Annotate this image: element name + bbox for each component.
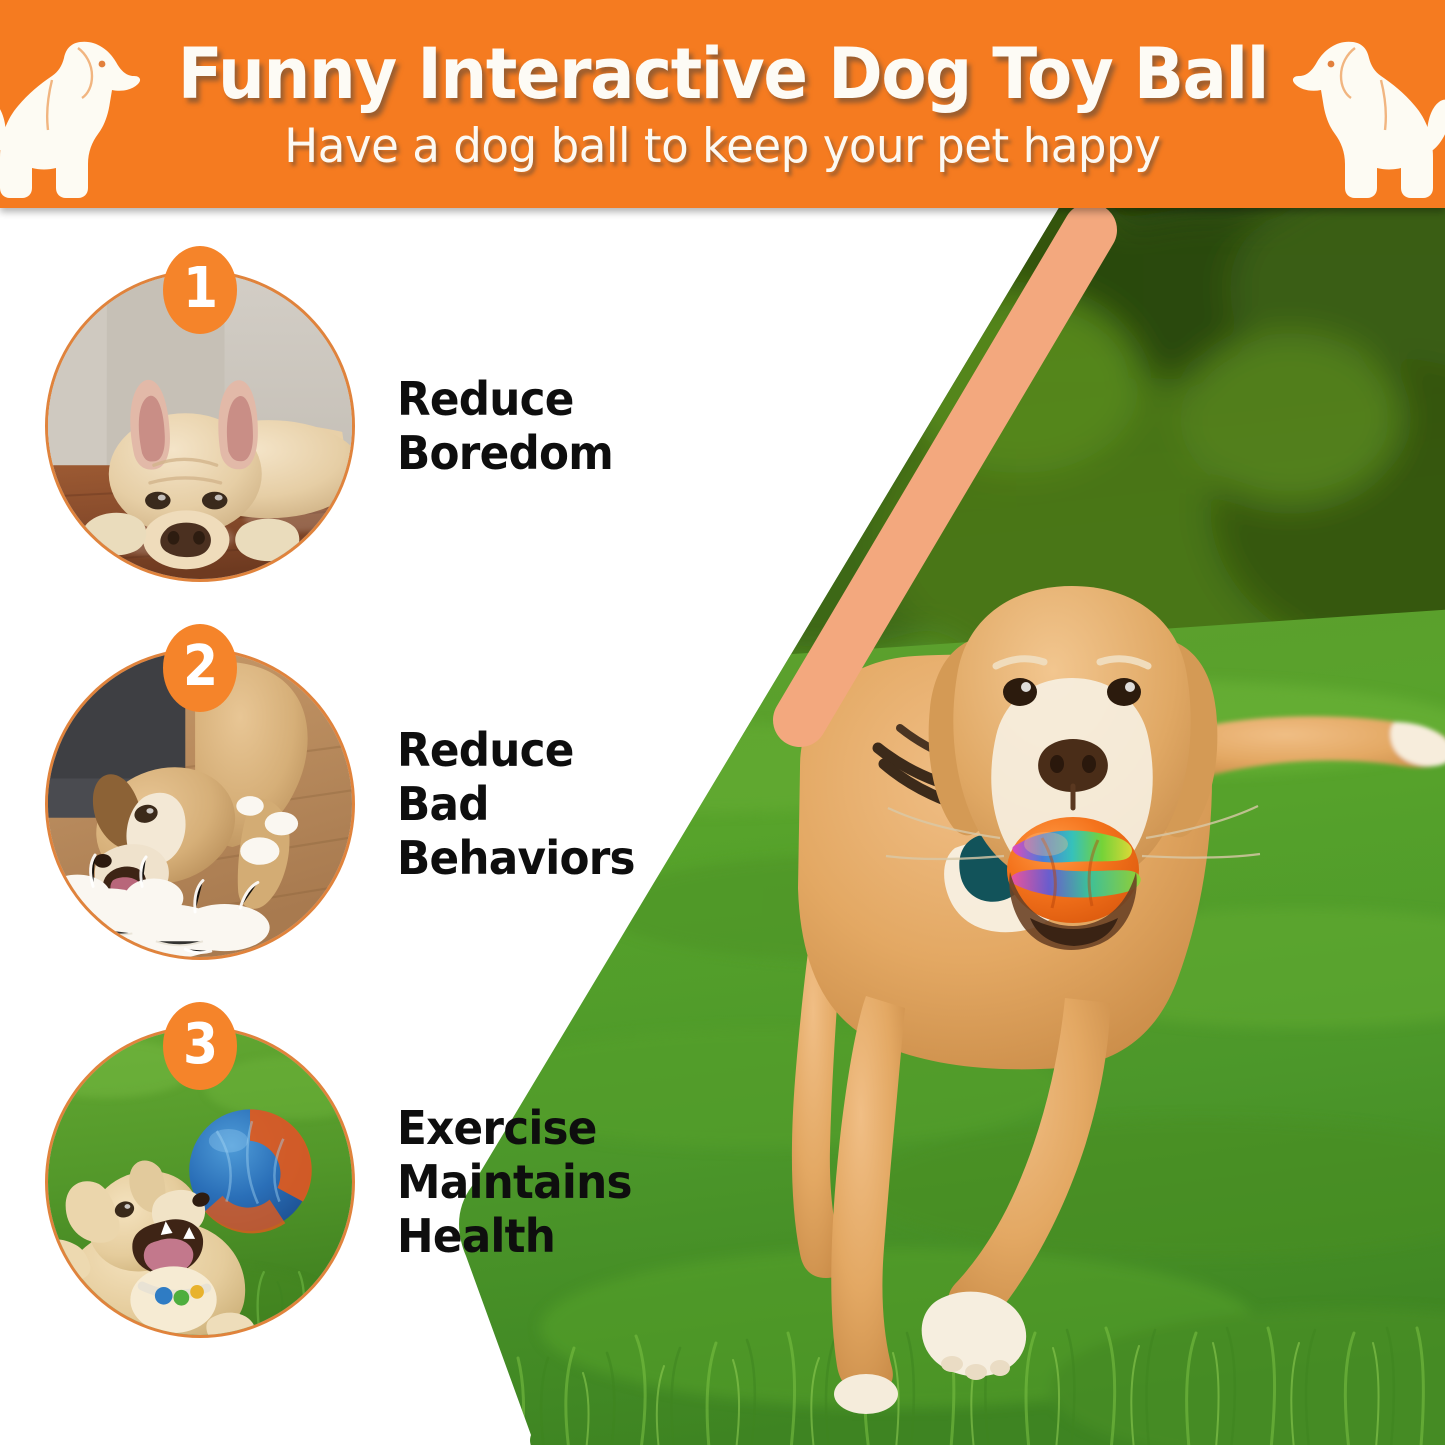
feature-number-badge: 1: [163, 246, 237, 334]
page-subtitle: Have a dog ball to keep your pet happy: [284, 123, 1160, 170]
page-title: Funny Interactive Dog Toy Ball: [177, 39, 1267, 109]
feature-label: Reduce Boredom: [397, 372, 704, 481]
feature-item: 3 Exercise Maintains Health: [0, 1026, 720, 1338]
feature-thumbnail-wrap: 2: [45, 648, 355, 960]
feature-label: Exercise Maintains Health: [397, 1101, 704, 1264]
feature-item: 1 Reduce Boredom: [0, 270, 720, 582]
feature-thumbnail-wrap: 1: [45, 270, 355, 582]
feature-list: 1 Reduce Boredom: [0, 208, 720, 1445]
feature-item: 2 Reduce Bad Behaviors: [0, 648, 720, 960]
feature-label: Reduce Bad Behaviors: [397, 723, 704, 886]
banner-text-block: Funny Interactive Dog Toy Ball Have a do…: [0, 0, 1445, 208]
infographic-canvas: Funny Interactive Dog Toy Ball Have a do…: [0, 0, 1445, 1445]
feature-thumbnail-wrap: 3: [45, 1026, 355, 1338]
header-banner: Funny Interactive Dog Toy Ball Have a do…: [0, 0, 1445, 208]
feature-number-badge: 2: [163, 624, 237, 712]
feature-number-badge: 3: [163, 1002, 237, 1090]
